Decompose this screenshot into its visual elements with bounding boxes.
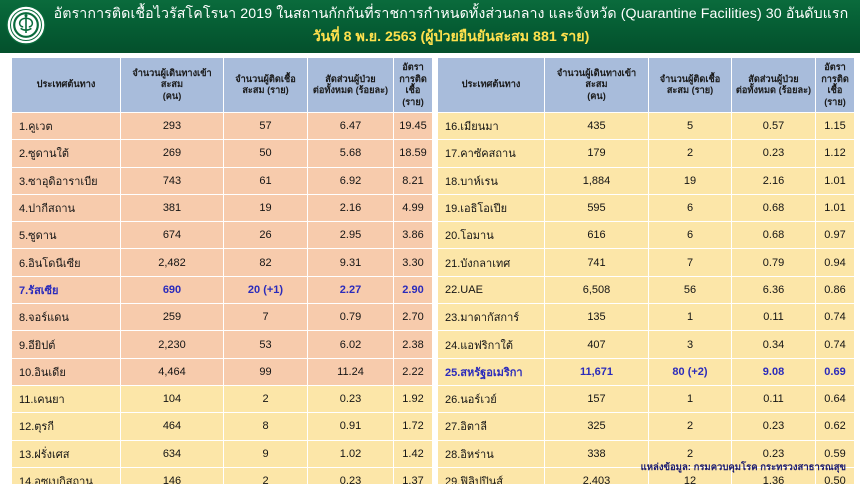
table-row: 5.ซูดาน674262.953.86 — [12, 222, 432, 248]
infected-cell: 6 — [649, 222, 731, 248]
country-cell: 20.โอมาน — [438, 222, 544, 248]
country-cell: 11.เคนยา — [12, 386, 120, 412]
infected-cell: 19 — [224, 195, 307, 221]
page-title: อัตราการติดเชื้อไวรัสโคโรนา 2019 ในสถานก… — [48, 4, 854, 24]
share-cell: 2.95 — [308, 222, 393, 248]
share-cell: 2.16 — [308, 195, 393, 221]
table-row: 3.ซาอุดิอาราเบีย743616.928.21 — [12, 168, 432, 194]
rate-cell: 1.15 — [816, 113, 854, 139]
travelers-cell: 325 — [545, 413, 648, 439]
country-cell: 17.คาซัคสถาน — [438, 140, 544, 166]
rate-cell: 1.37 — [394, 468, 432, 484]
column-header-travelers: จำนวนผู้เดินทางเข้าสะสม (คน) — [545, 58, 648, 112]
travelers-cell: 293 — [121, 113, 223, 139]
country-cell: 19.เอธิโอเปีย — [438, 195, 544, 221]
rate-cell: 0.74 — [816, 331, 854, 357]
table-row: 12.ตุรกี46480.911.72 — [12, 413, 432, 439]
country-cell: 5.ซูดาน — [12, 222, 120, 248]
country-cell: 3.ซาอุดิอาราเบีย — [12, 168, 120, 194]
travelers-cell: 2,403 — [545, 468, 648, 484]
travelers-cell: 407 — [545, 331, 648, 357]
infected-cell: 1 — [649, 386, 731, 412]
share-cell: 6.47 — [308, 113, 393, 139]
table-row: 25.สหรัฐอเมริกา11,67180 (+2)9.080.69 — [438, 359, 854, 385]
infected-cell: 50 — [224, 140, 307, 166]
country-cell: 27.อิตาลี — [438, 413, 544, 439]
ranking-table-left: ประเทศต้นทาง จำนวนผู้เดินทางเข้าสะสม (คน… — [11, 57, 433, 484]
travelers-cell: 135 — [545, 304, 648, 330]
share-cell: 6.02 — [308, 331, 393, 357]
share-cell: 9.31 — [308, 249, 393, 275]
header-banner: อัตราการติดเชื้อไวรัสโคโรนา 2019 ในสถานก… — [0, 0, 860, 53]
infected-cell: 82 — [224, 249, 307, 275]
column-header-rate: อัตราการติดเชื้อ (ราย) — [816, 58, 854, 112]
table-row: 7.รัสเซีย69020 (+1)2.272.90 — [12, 277, 432, 303]
column-header-country: ประเทศต้นทาง — [12, 58, 120, 112]
travelers-cell: 1,884 — [545, 168, 648, 194]
country-cell: 9.อียิปต์ — [12, 331, 120, 357]
share-cell: 0.11 — [732, 304, 815, 330]
travelers-cell: 435 — [545, 113, 648, 139]
rate-cell: 2.38 — [394, 331, 432, 357]
rate-cell: 2.70 — [394, 304, 432, 330]
travelers-cell: 595 — [545, 195, 648, 221]
travelers-cell: 104 — [121, 386, 223, 412]
country-cell: 22.UAE — [438, 277, 544, 303]
table-row: 14.อุซเบกิสถาน14620.231.37 — [12, 468, 432, 484]
share-cell: 0.79 — [308, 304, 393, 330]
rate-cell: 4.99 — [394, 195, 432, 221]
country-cell: 26.นอร์เวย์ — [438, 386, 544, 412]
rate-cell: 18.59 — [394, 140, 432, 166]
infected-cell: 99 — [224, 359, 307, 385]
country-cell: 18.บาห์เรน — [438, 168, 544, 194]
infected-cell: 5 — [649, 113, 731, 139]
travelers-cell: 259 — [121, 304, 223, 330]
share-cell: 2.16 — [732, 168, 815, 194]
infected-cell: 56 — [649, 277, 731, 303]
travelers-cell: 743 — [121, 168, 223, 194]
column-header-share: สัดส่วนผู้ป่วย ต่อทั้งหมด (ร้อยละ) — [732, 58, 815, 112]
travelers-cell: 464 — [121, 413, 223, 439]
table-row: 8.จอร์แดน25970.792.70 — [12, 304, 432, 330]
table-row: 13.ฝรั่งเศส63491.021.42 — [12, 441, 432, 467]
infected-cell: 19 — [649, 168, 731, 194]
share-cell: 11.24 — [308, 359, 393, 385]
table-row: 18.บาห์เรน1,884192.161.01 — [438, 168, 854, 194]
rate-cell: 1.12 — [816, 140, 854, 166]
infected-cell: 2 — [224, 468, 307, 484]
travelers-cell: 2,230 — [121, 331, 223, 357]
rate-cell: 2.22 — [394, 359, 432, 385]
rate-cell: 19.45 — [394, 113, 432, 139]
table-row: 2.ซูดานใต้269505.6818.59 — [12, 140, 432, 166]
share-cell: 9.08 — [732, 359, 815, 385]
table-row: 22.UAE6,508566.360.86 — [438, 277, 854, 303]
column-header-travelers: จำนวนผู้เดินทางเข้าสะสม (คน) — [121, 58, 223, 112]
country-cell: 28.อิหร่าน — [438, 441, 544, 467]
table-row: 4.ปากีสถาน381192.164.99 — [12, 195, 432, 221]
country-cell: 10.อินเดีย — [12, 359, 120, 385]
table-row: 24.แอฟริกาใต้40730.340.74 — [438, 331, 854, 357]
country-cell: 16.เมียนมา — [438, 113, 544, 139]
country-cell: 4.ปากีสถาน — [12, 195, 120, 221]
column-header-country: ประเทศต้นทาง — [438, 58, 544, 112]
ranking-table-right: ประเทศต้นทาง จำนวนผู้เดินทางเข้าสะสม (คน… — [437, 57, 855, 484]
travelers-cell: 11,671 — [545, 359, 648, 385]
country-cell: 21.บังกลาเทศ — [438, 249, 544, 275]
travelers-cell: 4,464 — [121, 359, 223, 385]
column-header-rate: อัตราการติดเชื้อ (ราย) — [394, 58, 432, 112]
column-header-share: สัดส่วนผู้ป่วย ต่อทั้งหมด (ร้อยละ) — [308, 58, 393, 112]
travelers-cell: 6,508 — [545, 277, 648, 303]
table-row: 6.อินโดนีเซีย2,482829.313.30 — [12, 249, 432, 275]
travelers-cell: 634 — [121, 441, 223, 467]
share-cell: 5.68 — [308, 140, 393, 166]
infected-cell: 26 — [224, 222, 307, 248]
rate-cell: 1.42 — [394, 441, 432, 467]
rate-cell: 1.72 — [394, 413, 432, 439]
country-cell: 12.ตุรกี — [12, 413, 120, 439]
rate-cell: 3.30 — [394, 249, 432, 275]
rate-cell: 0.62 — [816, 413, 854, 439]
travelers-cell: 381 — [121, 195, 223, 221]
table-row: 19.เอธิโอเปีย59560.681.01 — [438, 195, 854, 221]
table-body-right: 16.เมียนมา43550.571.1517.คาซัคสถาน17920.… — [438, 113, 854, 484]
infected-cell: 7 — [649, 249, 731, 275]
infected-cell: 3 — [649, 331, 731, 357]
infected-cell: 20 (+1) — [224, 277, 307, 303]
share-cell: 0.23 — [732, 413, 815, 439]
column-header-infected: จำนวนผู้ติดเชื้อ สะสม (ราย) — [649, 58, 731, 112]
table-body-left: 1.คูเวต293576.4719.452.ซูดานใต้269505.68… — [12, 113, 432, 484]
infected-cell: 61 — [224, 168, 307, 194]
rate-cell: 1.01 — [816, 168, 854, 194]
rate-cell: 0.69 — [816, 359, 854, 385]
table-row: 10.อินเดีย4,4649911.242.22 — [12, 359, 432, 385]
table-row: 1.คูเวต293576.4719.45 — [12, 113, 432, 139]
country-cell: 6.อินโดนีเซีย — [12, 249, 120, 275]
data-source-note: แหล่งข้อมูล: กรมควบคุมโรค กระทรวงสาธารณส… — [641, 460, 846, 475]
travelers-cell: 741 — [545, 249, 648, 275]
travelers-cell: 179 — [545, 140, 648, 166]
table-row: 21.บังกลาเทศ74170.790.94 — [438, 249, 854, 275]
travelers-cell: 674 — [121, 222, 223, 248]
infected-cell: 2 — [649, 140, 731, 166]
share-cell: 0.57 — [732, 113, 815, 139]
travelers-cell: 157 — [545, 386, 648, 412]
infected-cell: 2 — [224, 386, 307, 412]
page-subtitle-date: วันที่ 8 พ.ย. 2563 (ผู้ป่วยยืนยันสะสม 88… — [48, 27, 854, 47]
share-cell: 6.92 — [308, 168, 393, 194]
table-row: 26.นอร์เวย์15710.110.64 — [438, 386, 854, 412]
share-cell: 0.68 — [732, 195, 815, 221]
travelers-cell: 146 — [121, 468, 223, 484]
travelers-cell: 616 — [545, 222, 648, 248]
share-cell: 0.68 — [732, 222, 815, 248]
infected-cell: 57 — [224, 113, 307, 139]
table-row: 27.อิตาลี32520.230.62 — [438, 413, 854, 439]
infected-cell: 1 — [649, 304, 731, 330]
infected-cell: 7 — [224, 304, 307, 330]
infected-cell: 2 — [649, 413, 731, 439]
country-cell: 25.สหรัฐอเมริกา — [438, 359, 544, 385]
share-cell: 0.23 — [308, 386, 393, 412]
share-cell: 1.02 — [308, 441, 393, 467]
travelers-cell: 690 — [121, 277, 223, 303]
infected-cell: 9 — [224, 441, 307, 467]
share-cell: 2.27 — [308, 277, 393, 303]
country-cell: 1.คูเวต — [12, 113, 120, 139]
share-cell: 0.34 — [732, 331, 815, 357]
table-row: 16.เมียนมา43550.571.15 — [438, 113, 854, 139]
infected-cell: 80 (+2) — [649, 359, 731, 385]
country-cell: 8.จอร์แดน — [12, 304, 120, 330]
share-cell: 0.23 — [308, 468, 393, 484]
rate-cell: 2.90 — [394, 277, 432, 303]
rate-cell: 0.97 — [816, 222, 854, 248]
table-row: 17.คาซัคสถาน17920.231.12 — [438, 140, 854, 166]
share-cell: 0.79 — [732, 249, 815, 275]
title-block: อัตราการติดเชื้อไวรัสโคโรนา 2019 ในสถานก… — [48, 4, 854, 47]
country-cell: 2.ซูดานใต้ — [12, 140, 120, 166]
country-cell: 14.อุซเบกิสถาน — [12, 468, 120, 484]
rate-cell: 1.92 — [394, 386, 432, 412]
rate-cell: 0.64 — [816, 386, 854, 412]
infected-cell: 6 — [649, 195, 731, 221]
travelers-cell: 2,482 — [121, 249, 223, 275]
share-cell: 0.23 — [732, 140, 815, 166]
rate-cell: 8.21 — [394, 168, 432, 194]
rate-cell: 0.94 — [816, 249, 854, 275]
table-header-row: ประเทศต้นทาง จำนวนผู้เดินทางเข้าสะสม (คน… — [12, 58, 432, 112]
share-cell: 0.91 — [308, 413, 393, 439]
table-header-row: ประเทศต้นทาง จำนวนผู้เดินทางเข้าสะสม (คน… — [438, 58, 854, 112]
rate-cell: 3.86 — [394, 222, 432, 248]
country-cell: 24.แอฟริกาใต้ — [438, 331, 544, 357]
table-row: 23.มาดากัสการ์13510.110.74 — [438, 304, 854, 330]
column-header-infected: จำนวนผู้ติดเชื้อ สะสม (ราย) — [224, 58, 307, 112]
country-cell: 29.ฟิลิปปินส์ — [438, 468, 544, 484]
table-row: 11.เคนยา10420.231.92 — [12, 386, 432, 412]
rate-cell: 0.74 — [816, 304, 854, 330]
infected-cell: 8 — [224, 413, 307, 439]
table-row: 20.โอมาน61660.680.97 — [438, 222, 854, 248]
infographic-page: อัตราการติดเชื้อไวรัสโคโรนา 2019 ในสถานก… — [0, 0, 860, 484]
country-cell: 7.รัสเซีย — [12, 277, 120, 303]
share-cell: 0.11 — [732, 386, 815, 412]
rate-cell: 0.86 — [816, 277, 854, 303]
table-row: 9.อียิปต์2,230536.022.38 — [12, 331, 432, 357]
travelers-cell: 338 — [545, 441, 648, 467]
share-cell: 6.36 — [732, 277, 815, 303]
country-cell: 13.ฝรั่งเศส — [12, 441, 120, 467]
country-cell: 23.มาดากัสการ์ — [438, 304, 544, 330]
infected-cell: 53 — [224, 331, 307, 357]
travelers-cell: 269 — [121, 140, 223, 166]
rate-cell: 1.01 — [816, 195, 854, 221]
ministry-of-public-health-seal-icon — [6, 5, 46, 45]
